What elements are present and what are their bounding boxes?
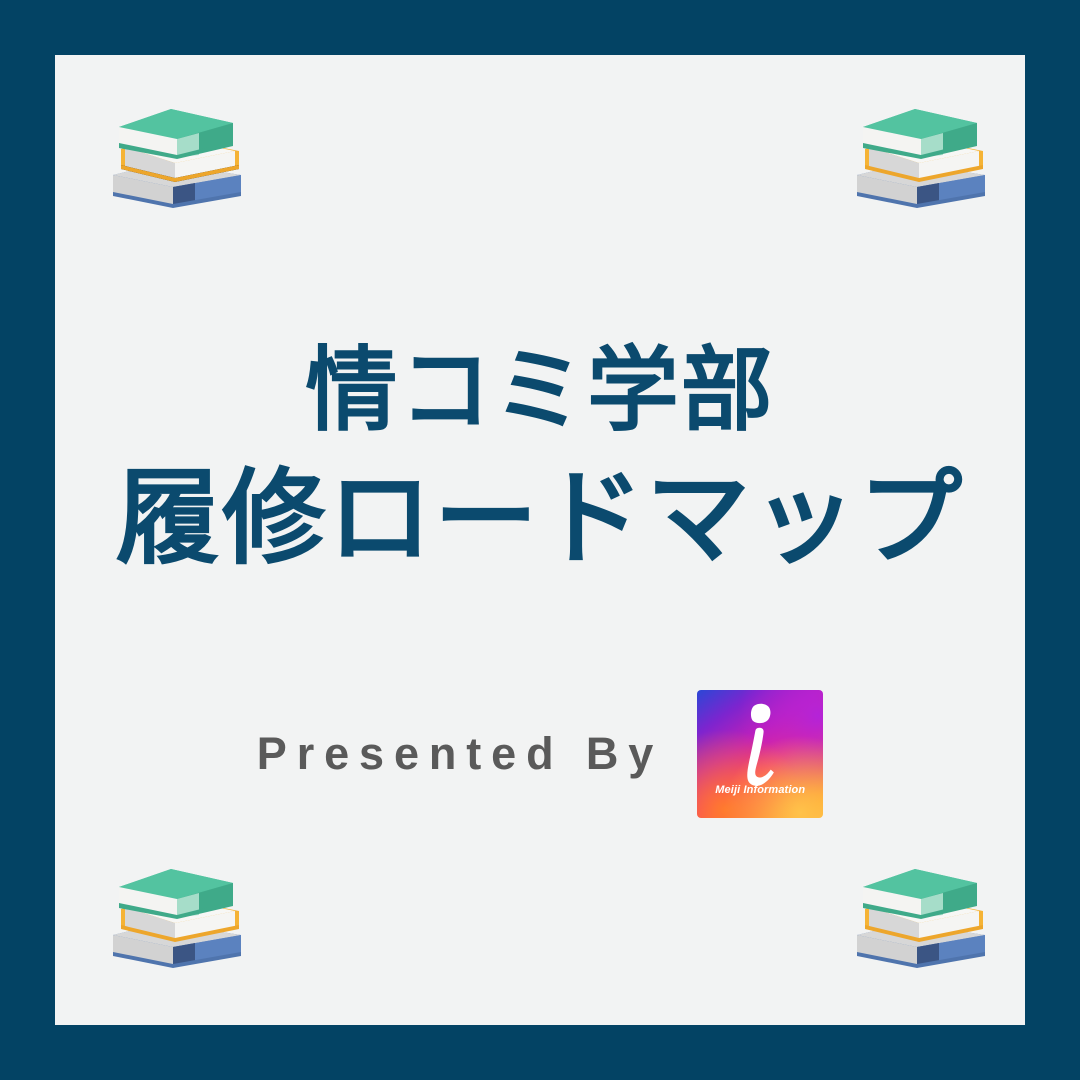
title-line-2: 履修ロードマップ (55, 467, 1025, 571)
meiji-information-logo: Meiji Information (697, 690, 823, 818)
poster-title: 情コミ学部 履修ロードマップ (55, 345, 1025, 571)
poster-inner-panel: 情コミ学部 履修ロードマップ Presented By Meiji Inform… (55, 55, 1025, 1025)
credit-row: Presented By Meiji Information (55, 690, 1025, 818)
title-line-1: 情コミ学部 (55, 345, 1025, 437)
presented-by-label: Presented By (257, 728, 663, 780)
book-stack-icon-top-right (845, 97, 995, 217)
logo-caption: Meiji Information (697, 784, 823, 796)
poster-canvas: 情コミ学部 履修ロードマップ Presented By Meiji Inform… (0, 0, 1080, 1080)
logo-i-mark-icon (697, 696, 823, 791)
book-stack-icon-bottom-right (845, 857, 995, 977)
book-stack-icon-bottom-left (101, 857, 251, 977)
book-stack-icon-top-left (101, 97, 251, 217)
